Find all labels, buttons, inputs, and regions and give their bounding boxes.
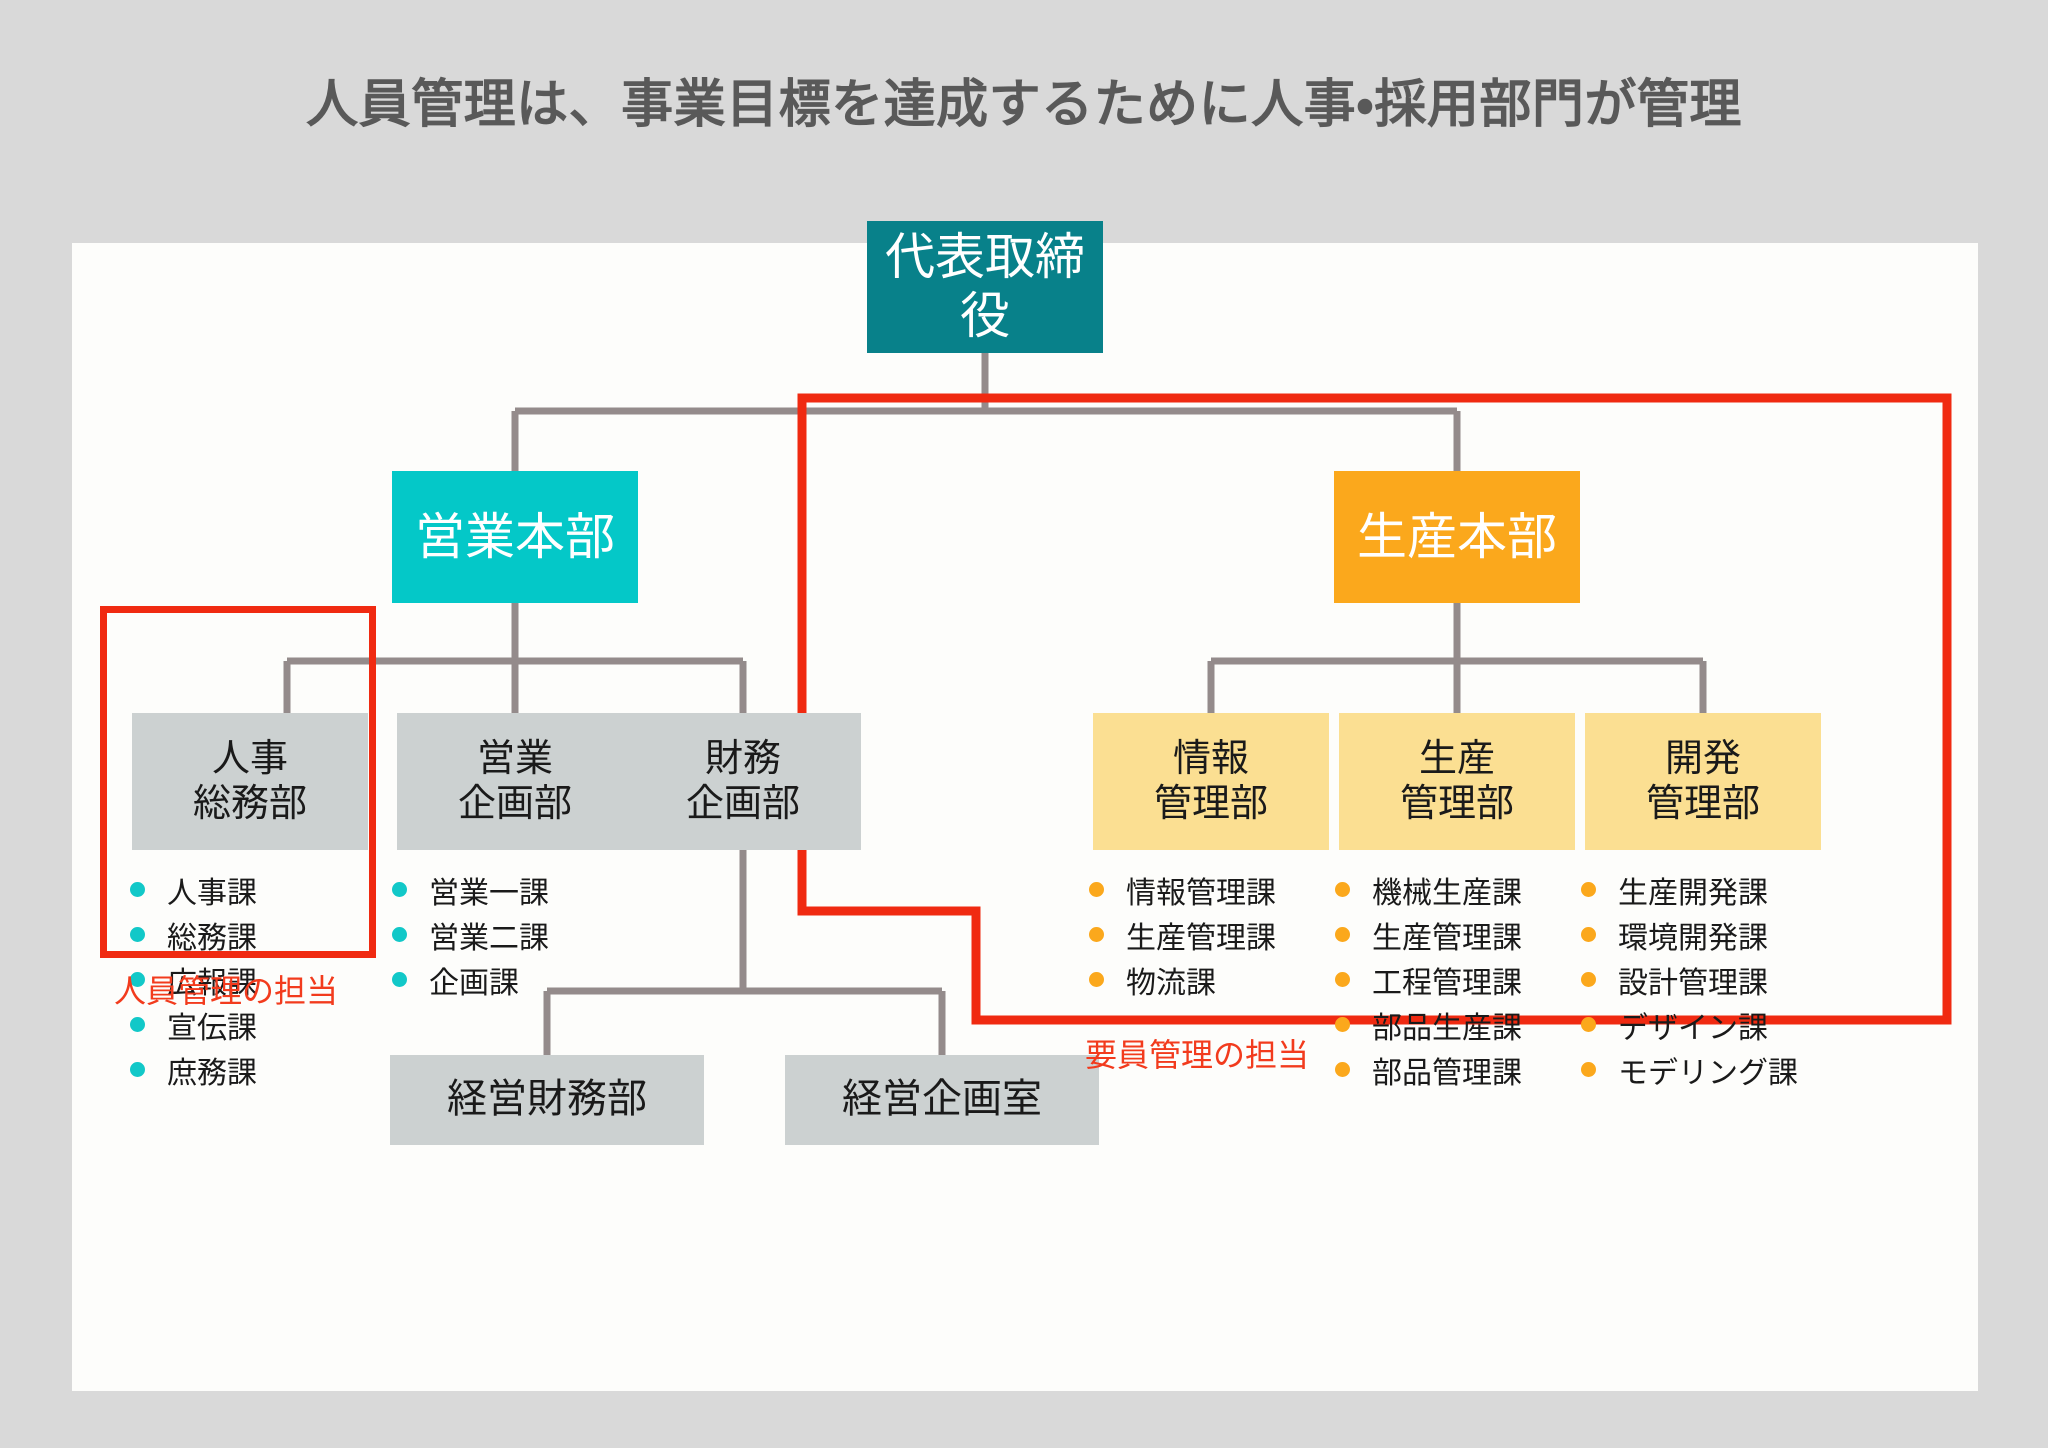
node-department-hr-general-affairs-label: 人事 総務部 [193, 737, 307, 827]
bullet-dot-icon [1089, 882, 1104, 897]
list-item: 企画課 [392, 957, 549, 1002]
node-subunit-corporate-finance[interactable]: 経営財務部 [390, 1055, 704, 1145]
section-label: 生産開発課 [1618, 868, 1768, 912]
label-line-2: 企画部 [686, 782, 800, 827]
label-line-1: 財務 [686, 737, 800, 782]
list-item: 部品管理課 [1335, 1047, 1522, 1092]
section-label: 企画課 [429, 958, 519, 1002]
list-item: 環境開発課 [1581, 912, 1798, 957]
list-item: 生産管理課 [1089, 912, 1276, 957]
list-item: 部品生産課 [1335, 1002, 1522, 1047]
section-label: 営業一課 [429, 868, 549, 912]
list-item: 生産開発課 [1581, 867, 1798, 912]
node-subunit-corporate-planning[interactable]: 経営企画室 [785, 1055, 1099, 1145]
section-label: 工程管理課 [1372, 958, 1522, 1002]
bullet-dot-icon [130, 1017, 145, 1032]
bullet-dot-icon [130, 1062, 145, 1077]
section-label: 部品管理課 [1372, 1048, 1522, 1092]
bullet-dot-icon [392, 882, 407, 897]
section-label: デザイン課 [1618, 1003, 1768, 1047]
label-line-1: 情報 [1154, 737, 1268, 782]
section-label: 庶務課 [167, 1048, 257, 1092]
bullet-dot-icon [1335, 1062, 1350, 1077]
node-ceo[interactable]: 代表取締役 [867, 221, 1103, 353]
bullet-dot-icon [1089, 927, 1104, 942]
section-label: 機械生産課 [1372, 868, 1522, 912]
node-department-development-management-label: 開発 管理部 [1646, 737, 1760, 827]
section-label: 部品生産課 [1372, 1003, 1522, 1047]
page-title: 人員管理は、事業目標を達成するために人事・採用部門が管理 [0, 62, 2048, 137]
node-subunit-corporate-finance-label: 経営財務部 [447, 1076, 647, 1123]
node-department-finance-planning-label: 財務 企画部 [686, 737, 800, 827]
highlight-caption-workforce-management: 要員管理の担当 [1085, 1030, 1309, 1076]
list-item: デザイン課 [1581, 1002, 1798, 1047]
node-department-sales-planning-label: 営業 企画部 [458, 737, 572, 827]
list-item: モデリング課 [1581, 1047, 1798, 1092]
section-label: 人事課 [167, 868, 257, 912]
node-department-production-management[interactable]: 生産 管理部 [1339, 713, 1575, 850]
section-list-development-management: 生産開発課 環境開発課 設計管理課 デザイン課 モデリング課 [1581, 867, 1798, 1092]
label-line-2: 総務部 [193, 782, 307, 827]
list-item: 総務課 [130, 912, 257, 957]
node-division-production[interactable]: 生産本部 [1334, 471, 1580, 603]
bullet-dot-icon [1335, 882, 1350, 897]
label-line-2: 管理部 [1154, 782, 1268, 827]
section-list-sales-planning: 営業一課 営業二課 企画課 [392, 867, 549, 1002]
list-item: 人事課 [130, 867, 257, 912]
node-division-sales-label: 営業本部 [415, 508, 615, 567]
node-department-development-management[interactable]: 開発 管理部 [1585, 713, 1821, 850]
list-item: 機械生産課 [1335, 867, 1522, 912]
bullet-dot-icon [1581, 972, 1596, 987]
node-division-sales[interactable]: 営業本部 [392, 471, 638, 603]
bullet-dot-icon [392, 927, 407, 942]
org-chart-canvas: 代表取締役 営業本部 生産本部 人事 総務部 営業 企画部 財務 企画部 情報 … [72, 243, 1978, 1391]
bullet-dot-icon [1335, 1017, 1350, 1032]
section-label: 生産管理課 [1372, 913, 1522, 957]
node-department-information-management[interactable]: 情報 管理部 [1093, 713, 1329, 850]
label-line-1: 営業 [458, 737, 572, 782]
list-item: 生産管理課 [1335, 912, 1522, 957]
node-division-production-label: 生産本部 [1357, 508, 1557, 567]
bullet-dot-icon [130, 882, 145, 897]
bullet-dot-icon [1089, 972, 1104, 987]
bullet-dot-icon [1581, 1062, 1596, 1077]
section-label: 環境開発課 [1618, 913, 1768, 957]
highlight-caption-personnel-management: 人員管理の担当 [114, 966, 338, 1012]
bullet-dot-icon [1581, 927, 1596, 942]
list-item: 営業一課 [392, 867, 549, 912]
label-line-1: 生産 [1400, 737, 1514, 782]
label-line-2: 管理部 [1646, 782, 1760, 827]
section-label: 総務課 [167, 913, 257, 957]
bullet-dot-icon [1335, 927, 1350, 942]
list-item: 設計管理課 [1581, 957, 1798, 1002]
node-ceo-label: 代表取締役 [867, 228, 1103, 346]
node-department-hr-general-affairs[interactable]: 人事 総務部 [132, 713, 368, 850]
section-label: モデリング課 [1618, 1048, 1798, 1092]
bullet-dot-icon [130, 927, 145, 942]
section-label: 物流課 [1126, 958, 1216, 1002]
label-line-1: 人事 [193, 737, 307, 782]
list-item: 営業二課 [392, 912, 549, 957]
node-department-sales-planning[interactable]: 営業 企画部 [397, 713, 633, 850]
section-label: 設計管理課 [1618, 958, 1768, 1002]
node-department-finance-planning[interactable]: 財務 企画部 [625, 713, 861, 850]
bullet-dot-icon [1335, 972, 1350, 987]
section-label: 情報管理課 [1126, 868, 1276, 912]
section-list-information-management: 情報管理課 生産管理課 物流課 [1089, 867, 1276, 1002]
section-list-production-management: 機械生産課 生産管理課 工程管理課 部品生産課 部品管理課 [1335, 867, 1522, 1092]
label-line-1: 開発 [1646, 737, 1760, 782]
list-item: 情報管理課 [1089, 867, 1276, 912]
list-item: 庶務課 [130, 1047, 257, 1092]
bullet-dot-icon [1581, 1017, 1596, 1032]
node-department-information-management-label: 情報 管理部 [1154, 737, 1268, 827]
bullet-dot-icon [392, 972, 407, 987]
node-subunit-corporate-planning-label: 経営企画室 [842, 1076, 1042, 1123]
label-line-2: 企画部 [458, 782, 572, 827]
section-label: 生産管理課 [1126, 913, 1276, 957]
list-item: 工程管理課 [1335, 957, 1522, 1002]
section-label: 営業二課 [429, 913, 549, 957]
list-item: 物流課 [1089, 957, 1276, 1002]
label-line-2: 管理部 [1400, 782, 1514, 827]
bullet-dot-icon [1581, 882, 1596, 897]
node-department-production-management-label: 生産 管理部 [1400, 737, 1514, 827]
